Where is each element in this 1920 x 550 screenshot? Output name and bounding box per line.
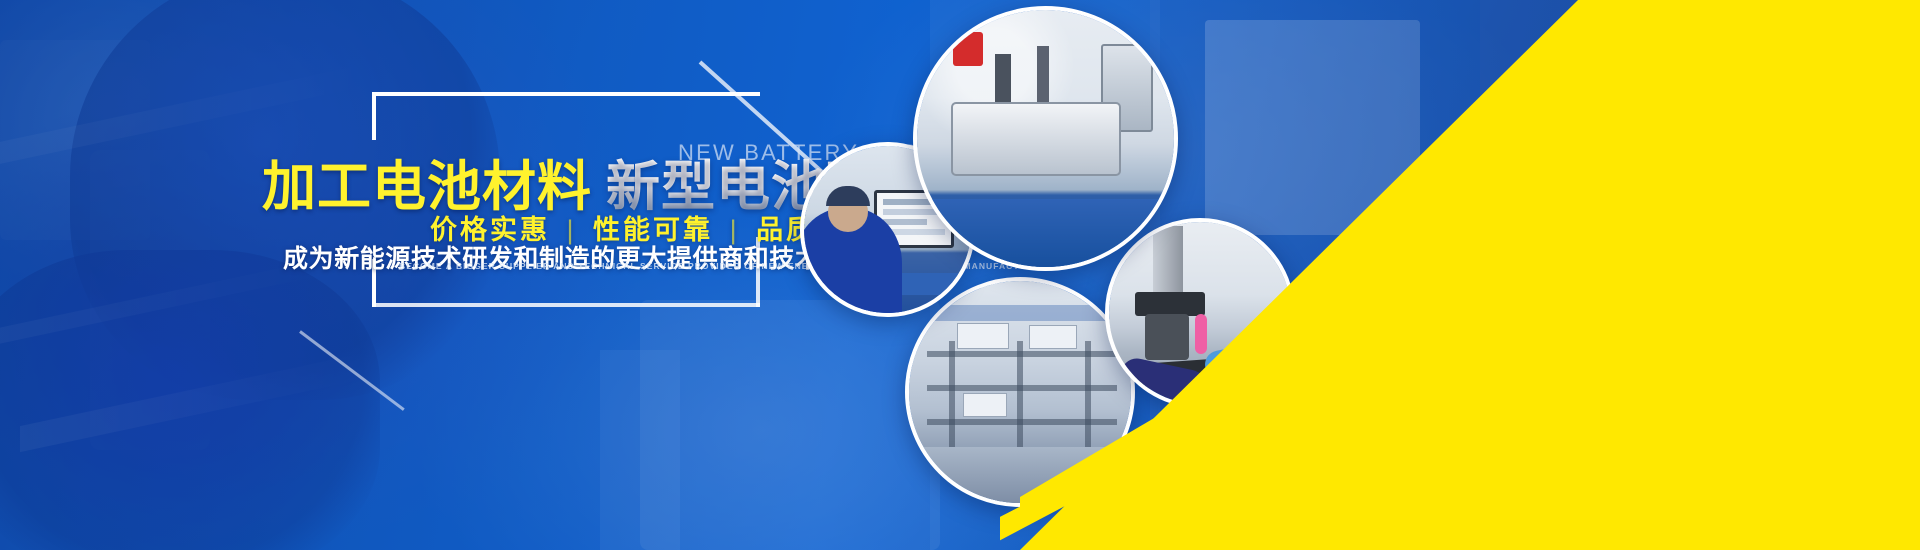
photo-detail	[917, 199, 1174, 267]
coating-machine-photo	[917, 10, 1174, 267]
promo-banner: NEW BATTERY RESEARCH 加工电池材料新型电池研究 价格实惠 |…	[0, 0, 1920, 550]
banner-copy: NEW BATTERY RESEARCH 加工电池材料新型电池研究 价格实惠 |…	[0, 0, 940, 550]
photo-detail	[1145, 314, 1189, 360]
photo-detail	[949, 341, 955, 451]
photo-detail	[951, 102, 1121, 176]
photo-detail	[1017, 341, 1023, 451]
photo-detail	[963, 393, 1007, 417]
photo-circle-coating-machine	[913, 6, 1178, 271]
photo-detail	[953, 32, 983, 66]
photo-detail	[1195, 314, 1207, 354]
photo-detail	[1029, 325, 1077, 349]
photo-detail	[1135, 292, 1205, 316]
photo-detail	[957, 323, 1009, 349]
photo-detail	[826, 186, 870, 206]
photo-detail	[1085, 341, 1091, 451]
